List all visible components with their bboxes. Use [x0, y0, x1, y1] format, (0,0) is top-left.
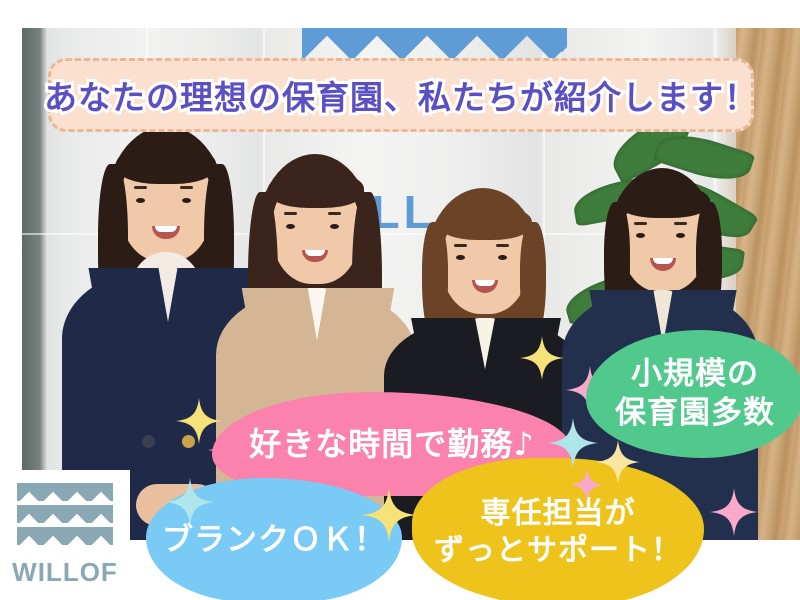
- bubble-dedicated-support-label: 専任担当が ずっとサポート！: [434, 495, 682, 570]
- bubble-dedicated-support: 専任担当が ずっとサポート！: [412, 458, 704, 600]
- sparkle-pink-right: [710, 488, 758, 536]
- willof-zigzag-row: [17, 527, 113, 545]
- willof-logo: WILLOF: [0, 470, 130, 600]
- wall-zigzag-row: [302, 28, 567, 59]
- bubble-small-nurseries-line1: 小規模の: [615, 355, 775, 394]
- bubble-small-nurseries-label: 小規模の 保育園多数: [615, 355, 775, 433]
- sparkle-cyan-lower: [548, 418, 598, 468]
- willof-zigzag-row: [17, 505, 113, 523]
- bubble-dedicated-support-line2: ずっとサポート！: [434, 532, 682, 570]
- sparkle-pink-green: [570, 468, 604, 502]
- headline-text: あなたの理想の保育園、私たちが紹介します！: [44, 71, 758, 119]
- bubble-blank-ok-label: ブランクＯＫ！: [162, 521, 386, 560]
- willof-zigzag-row: [17, 483, 113, 501]
- sparkle-yellow-mid: [362, 488, 416, 542]
- sparkle-cyan-blue-top: [166, 478, 214, 526]
- sparkle-yellow-upper: [520, 336, 564, 380]
- willof-wordmark: WILLOF: [12, 557, 118, 588]
- bubble-dedicated-support-line1: 専任担当が: [434, 495, 682, 533]
- headline-banner: あなたの理想の保育園、私たちが紹介します！: [48, 58, 754, 132]
- bubble-small-nurseries-line2: 保育園多数: [615, 394, 775, 433]
- bubble-flexible-hours-label: 好きな時間で勤務♪: [249, 424, 534, 464]
- recruitment-banner: WILL: [0, 0, 800, 600]
